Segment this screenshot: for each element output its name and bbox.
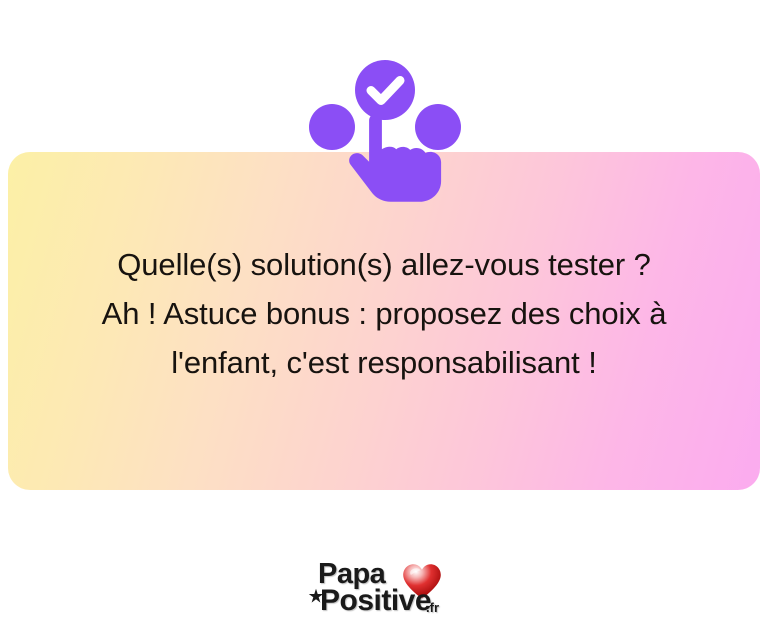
check-circle-icon <box>355 60 415 120</box>
right-dot-icon <box>415 104 461 150</box>
brand-logo-suffix-fr: .fr <box>426 601 439 614</box>
brand-logo-word-positive: Positive <box>320 586 431 616</box>
brand-logo[interactable]: Papa Positive .fr <box>0 556 768 632</box>
left-dot-icon <box>309 104 355 150</box>
poster-canvas: Quelle(s) solution(s) allez-vous tester … <box>0 0 768 644</box>
pointing-hand-choices-icon <box>305 52 465 212</box>
quote-text: Quelle(s) solution(s) allez-vous tester … <box>8 240 760 387</box>
brand-logo-inner: Papa Positive .fr <box>308 556 460 632</box>
